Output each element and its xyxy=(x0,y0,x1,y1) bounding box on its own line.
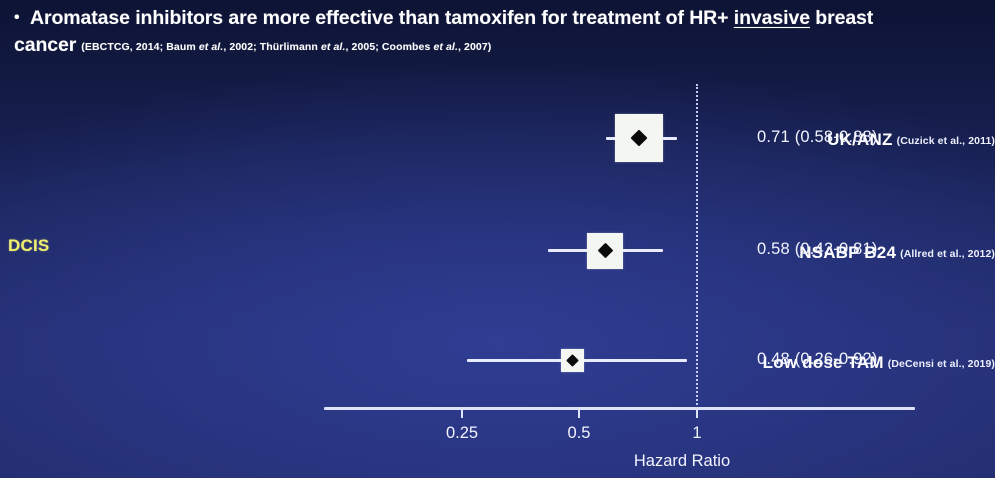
x-axis-label-2: 1 xyxy=(692,424,701,443)
forest-plot: DCIS UK/ANZ(Cuzick et al., 2011) 0.71 (0… xyxy=(0,0,995,478)
x-axis-tick-0 xyxy=(461,409,463,418)
x-axis-tick-2 xyxy=(696,409,698,418)
x-axis-label-1: 0.5 xyxy=(568,424,591,443)
x-axis-title: Hazard Ratio xyxy=(634,452,730,471)
study-citation-3: (DeCensi et al., 2019) xyxy=(888,358,995,370)
hazard-ratio-value-3: 0.48 (0.26-0.92) xyxy=(757,350,878,369)
study-citation-1: (Cuzick et al., 2011) xyxy=(897,135,995,147)
slide-canvas: •Aromatase inhibitors are more effective… xyxy=(0,0,995,478)
x-axis-label-0: 0.25 xyxy=(446,424,478,443)
group-label-dcis: DCIS xyxy=(8,236,49,256)
hazard-ratio-value-1: 0.71 (0.58-0.88) xyxy=(757,128,878,147)
x-axis-line xyxy=(324,407,915,410)
x-axis-tick-1 xyxy=(578,409,580,418)
hazard-ratio-value-2: 0.58 (0.42-0.81) xyxy=(757,240,878,259)
study-citation-2: (Allred et al., 2012) xyxy=(900,248,995,260)
